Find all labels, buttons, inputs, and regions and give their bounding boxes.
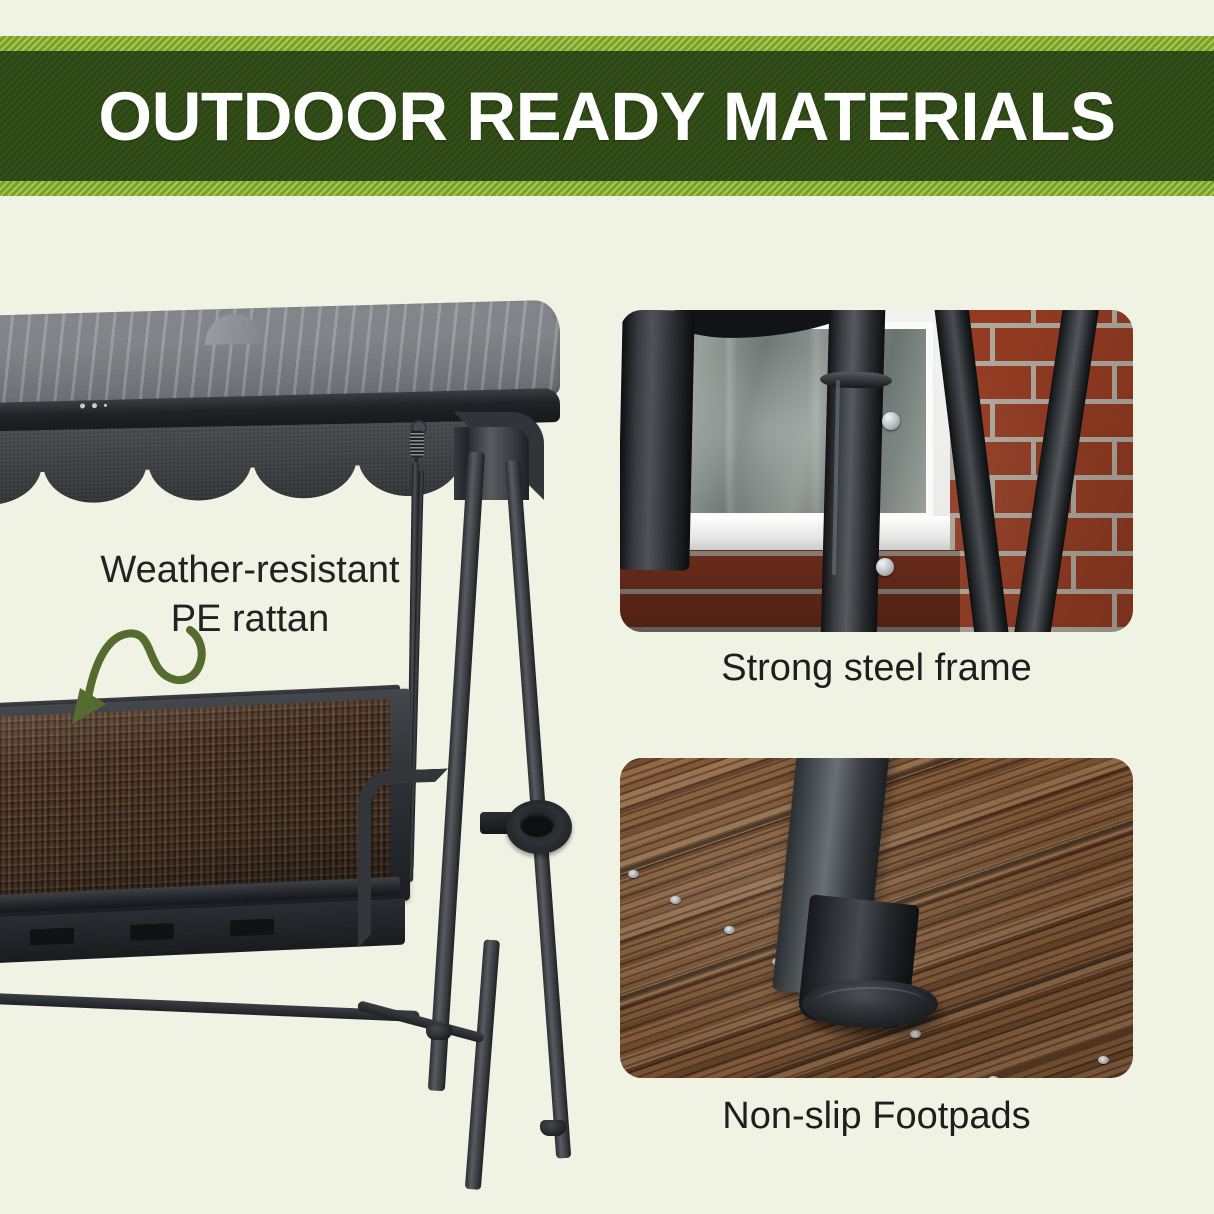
caption-footpads: Non-slip Footpads [620,1094,1133,1140]
non-slip-footpad-base [802,980,938,1028]
canopy-bar-rivets [80,402,120,409]
deck-screw [724,926,735,934]
deck-screw [670,896,681,904]
bolt-upper [882,412,900,430]
canopy-scalloped-valance [0,420,510,508]
canopy-spring-hook [409,420,425,466]
cup-holder [506,800,572,854]
frame-cross-brace-right [357,1000,485,1043]
deck-screw [988,1076,999,1078]
seat-armrest-arc [358,768,448,947]
header-banner: OUTDOOR READY MATERIALS [0,36,1214,196]
page-title: OUTDOOR READY MATERIALS [0,36,1214,196]
caption-steel-frame: Strong steel frame [620,646,1133,692]
curved-arrow-icon [62,612,212,732]
deck-screw [628,870,639,878]
steel-tube-main [820,310,885,632]
steel-tube-sleeve [620,310,695,571]
frame-foot-cap-left [426,1024,452,1040]
deck-screw [1098,1056,1109,1064]
canopy-swing-product-photo [0,300,600,1170]
annotation-rattan-line1: Weather-resistant [70,546,430,595]
steel-tube-sleeve-lip [820,371,892,389]
frame-foot-cap-right [540,1120,566,1136]
photo-panel-footpad [620,758,1133,1078]
frame-front-post-lower [465,939,500,1189]
bolt-lower [876,558,894,576]
photo-panel-steel-frame [620,310,1133,632]
